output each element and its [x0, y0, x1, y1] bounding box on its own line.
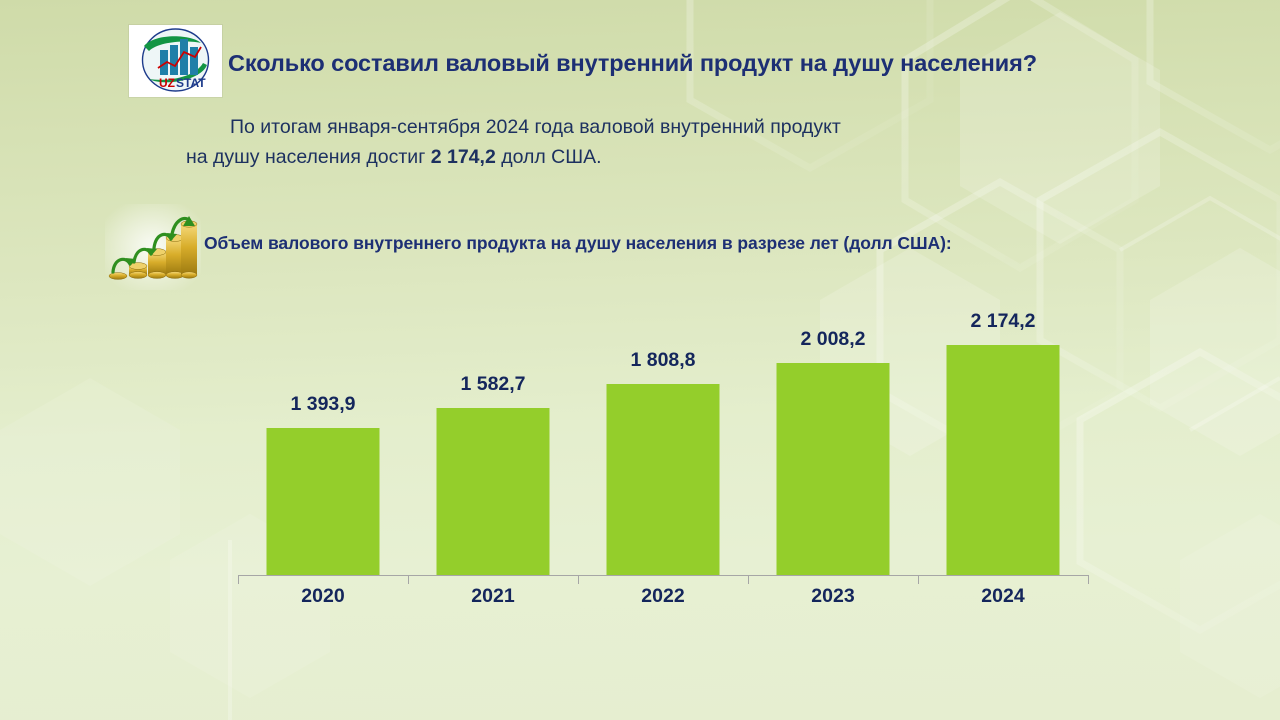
bar-2023[interactable]: [777, 363, 890, 575]
svg-text:UZ: UZ: [159, 76, 175, 90]
bar-2021[interactable]: [437, 408, 550, 575]
slide-canvas: UZ STAT Сколько составил валовый внутрен…: [0, 0, 1280, 720]
page-title: Сколько составил валовый внутренний прод…: [228, 48, 1188, 78]
intro-line-2-post: долл США.: [496, 146, 602, 168]
bar-slot: 1 808,8: [578, 300, 748, 575]
x-axis-label-2023: 2023: [748, 585, 918, 608]
x-axis-tick: [408, 575, 409, 584]
intro-line-2-pre: на душу населения достиг: [186, 146, 431, 168]
bar-slot: 1 393,9: [238, 300, 408, 575]
x-axis-tick: [748, 575, 749, 584]
bar-value-label-2023: 2 008,2: [800, 328, 865, 351]
gdp-per-capita-bar-chart: 1 393,91 582,71 808,82 008,22 174,2 2020…: [0, 300, 1280, 620]
x-axis-tick: [238, 575, 239, 584]
bar-slot: 1 582,7: [408, 300, 578, 575]
bar-2020[interactable]: [267, 428, 380, 575]
gdp-value-highlight: 2 174,2: [431, 146, 496, 168]
intro-paragraph: По итогам января-сентября 2024 года вало…: [186, 112, 1126, 172]
bar-2022[interactable]: [607, 384, 720, 575]
intro-line-2: на душу населения достиг 2 174,2 долл СШ…: [186, 142, 1126, 172]
x-axis-tick: [578, 575, 579, 584]
x-axis-label-2020: 2020: [238, 585, 408, 608]
svg-text:STAT: STAT: [176, 76, 206, 90]
bar-value-label-2024: 2 174,2: [970, 310, 1035, 333]
x-axis-label-2022: 2022: [578, 585, 748, 608]
bar-value-label-2021: 1 582,7: [460, 373, 525, 396]
uzstat-logo: UZ STAT: [129, 25, 222, 97]
bar-value-label-2022: 1 808,8: [630, 349, 695, 372]
bar-2024[interactable]: [947, 345, 1060, 575]
x-axis-line: [238, 575, 1089, 576]
intro-line-1: По итогам января-сентября 2024 года вало…: [230, 116, 841, 138]
x-axis-tick: [1088, 575, 1089, 584]
gold-coins-growth-icon: [105, 204, 201, 290]
bar-slot: 2 008,2: [748, 300, 918, 575]
bar-slot: 2 174,2: [918, 300, 1088, 575]
chart-plot-area: 1 393,91 582,71 808,82 008,22 174,2: [238, 300, 1088, 575]
bar-value-label-2020: 1 393,9: [290, 393, 355, 416]
x-axis-label-2021: 2021: [408, 585, 578, 608]
x-axis-label-2024: 2024: [918, 585, 1088, 608]
x-axis-tick: [918, 575, 919, 584]
chart-subtitle: Объем валового внутреннего продукта на д…: [204, 233, 1154, 254]
